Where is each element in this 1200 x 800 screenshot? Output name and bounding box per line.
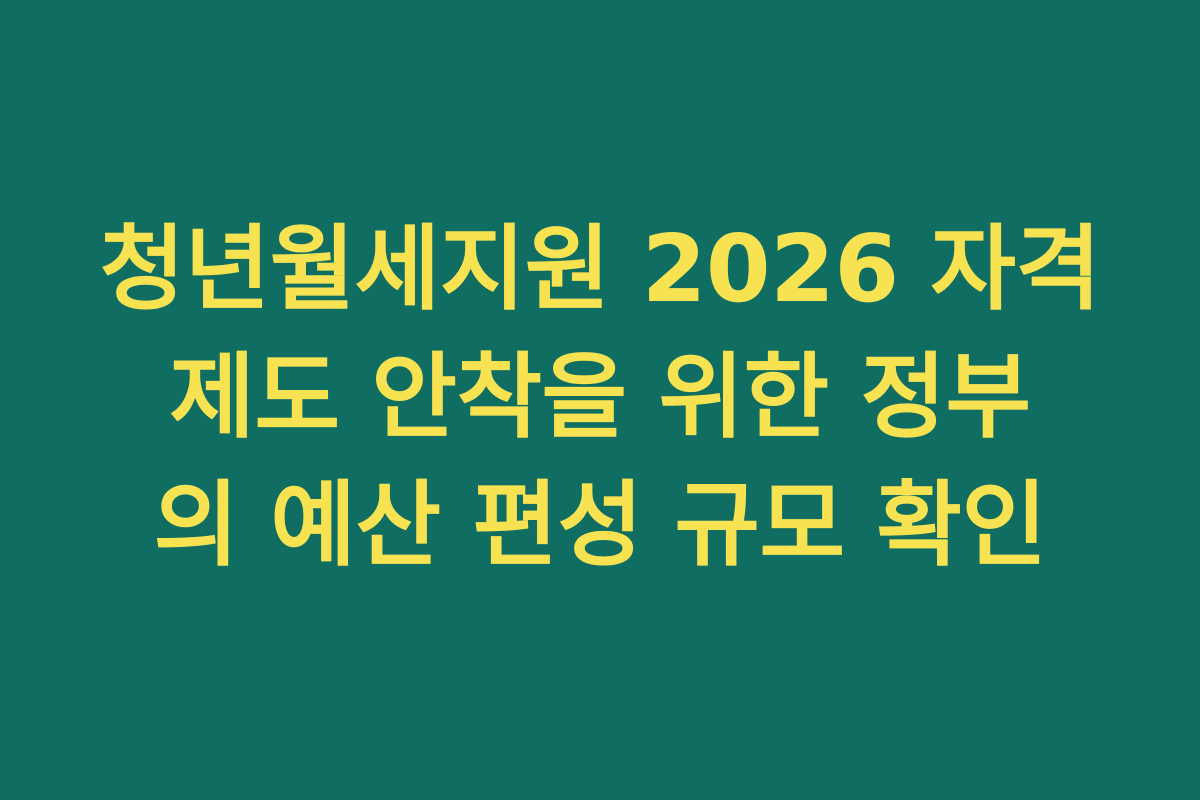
title-banner: 청년월세지원 2026 자격 제도 안착을 위한 정부 의 예산 편성 규모 확…: [0, 0, 1200, 800]
title-line-2: 제도 안착을 위한 정부: [80, 333, 1120, 461]
page-title: 청년월세지원 2026 자격 제도 안착을 위한 정부 의 예산 편성 규모 확…: [70, 205, 1130, 589]
title-line-1: 청년월세지원 2026 자격: [80, 205, 1120, 333]
title-line-3: 의 예산 편성 규모 확인: [80, 461, 1120, 589]
